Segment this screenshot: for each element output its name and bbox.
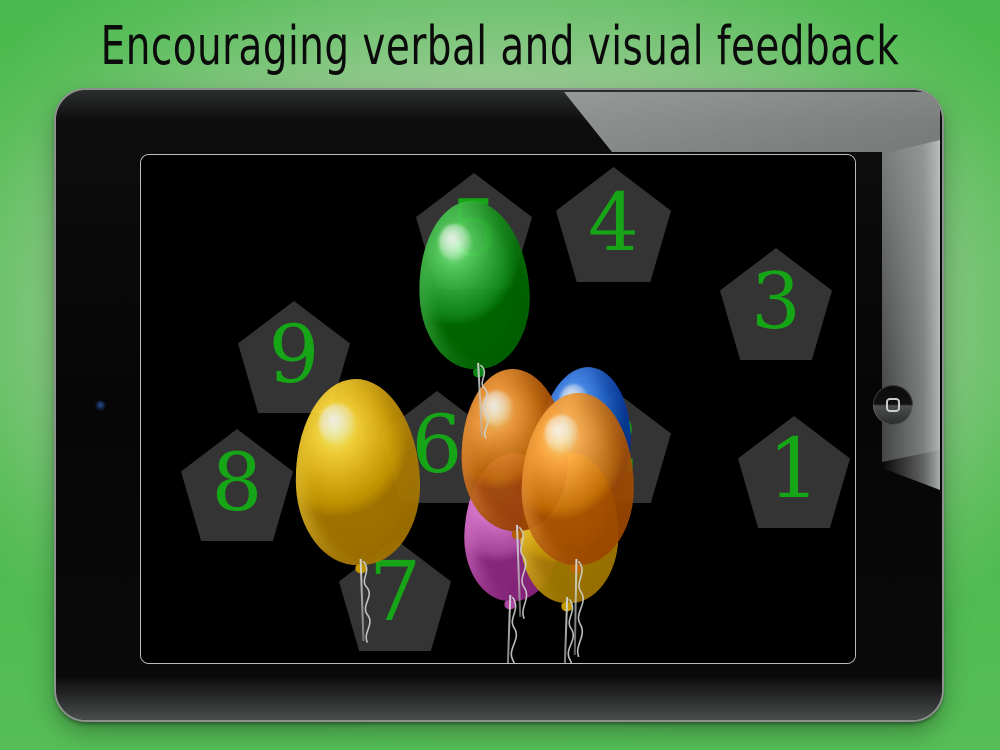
- balloon-yellow-purple-body: [292, 377, 422, 567]
- balloon-green-body: [415, 198, 534, 372]
- balloon-orange-front[interactable]: [519, 392, 636, 662]
- pentagon-4-label: 4: [588, 183, 639, 263]
- balloon-orange-front-body: [520, 392, 635, 566]
- balloon-green-highlight: [438, 223, 473, 262]
- game-canvas[interactable]: 543962187: [141, 155, 855, 663]
- balloon-yellow-purple[interactable]: [292, 377, 425, 649]
- pentagon-1-label: 1: [768, 429, 820, 511]
- pentagon-4[interactable]: 4: [556, 167, 671, 282]
- balloon-orange-front-ribbon-curl: [571, 561, 599, 657]
- page-title: Encouraging verbal and visual feedback: [30, 14, 970, 77]
- balloon-yellow-purple-ribbon-curl: [357, 560, 386, 643]
- tablet-screen[interactable]: 543962187: [140, 154, 856, 664]
- front-camera-icon: [96, 401, 105, 410]
- pentagon-8[interactable]: 8: [181, 429, 293, 541]
- home-button[interactable]: [873, 385, 913, 425]
- tablet-device: 543962187: [56, 90, 942, 720]
- balloon-yellow-purple-highlight: [318, 403, 357, 445]
- balloon-orange-front-highlight: [545, 415, 579, 453]
- pentagon-1[interactable]: 1: [738, 416, 850, 528]
- pentagon-8-label: 8: [212, 443, 263, 523]
- home-button-square-icon: [886, 398, 900, 412]
- pentagon-3-label: 3: [751, 263, 801, 341]
- balloon-green[interactable]: [415, 198, 538, 445]
- pentagon-3[interactable]: 3: [720, 248, 832, 360]
- balloon-green-ribbon-curl: [474, 364, 504, 439]
